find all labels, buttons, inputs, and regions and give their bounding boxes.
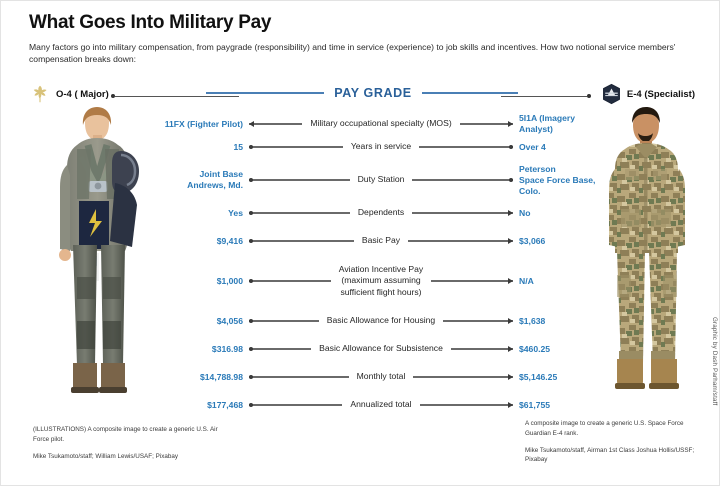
paygrade-rule-left bbox=[206, 92, 324, 94]
row-left-value: 15 bbox=[151, 142, 249, 153]
row-left-value: $4,056 bbox=[151, 316, 249, 327]
table-row: $177,468 Annualized total $61,755 bbox=[151, 391, 611, 419]
paygrade-title: PAY GRADE bbox=[324, 86, 421, 100]
table-row: $1,000 Aviation Incentive Pay (maximum a… bbox=[151, 255, 611, 307]
paygrade-rule-right bbox=[422, 92, 518, 94]
connector-right bbox=[412, 175, 513, 184]
row-middle: Basic Pay bbox=[249, 235, 513, 246]
row-right-value: Over 4 bbox=[513, 142, 611, 153]
connector-left bbox=[249, 316, 319, 325]
row-label: Military occupational specialty (MOS) bbox=[302, 118, 459, 129]
table-row: Joint Base Andrews, Md. Duty Station Pet… bbox=[151, 161, 611, 199]
row-right-value: $5,146.25 bbox=[513, 372, 611, 383]
connector-right bbox=[413, 372, 513, 381]
row-left-value: Joint Base Andrews, Md. bbox=[151, 169, 249, 191]
infographic-page: What Goes Into Military Pay Many factors… bbox=[0, 0, 720, 486]
row-middle: Basic Allowance for Subsistence bbox=[249, 343, 513, 354]
row-label: Basic Pay bbox=[354, 235, 408, 246]
left-caption-description: (ILLUSTRATIONS) A composite image to cre… bbox=[33, 425, 233, 445]
right-axis-line bbox=[501, 96, 587, 97]
row-label: Dependents bbox=[350, 207, 412, 218]
row-middle: Monthly total bbox=[249, 371, 513, 382]
row-right-value: $3,066 bbox=[513, 236, 611, 247]
right-caption: A composite image to create a generic U.… bbox=[525, 419, 703, 465]
table-row: $316.98 Basic Allowance for Subsistence … bbox=[151, 335, 611, 363]
left-rank-group: O-4 ( Major) bbox=[29, 83, 109, 105]
row-right-value: $460.25 bbox=[513, 344, 611, 355]
row-middle: Annualized total bbox=[249, 399, 513, 410]
right-axis-dot bbox=[587, 94, 591, 98]
row-label: Basic Allowance for Housing bbox=[319, 315, 443, 326]
page-subtitle: Many factors go into military compensati… bbox=[29, 41, 695, 66]
header: What Goes Into Military Pay Many factors… bbox=[29, 13, 695, 66]
connector-right bbox=[408, 236, 513, 245]
gold-oak-leaf-icon bbox=[29, 83, 51, 105]
page-title: What Goes Into Military Pay bbox=[29, 13, 695, 34]
row-label: Aviation Incentive Pay (maximum assuming… bbox=[331, 264, 431, 298]
connector-right bbox=[451, 344, 513, 353]
connector-left bbox=[249, 344, 311, 353]
table-row: Yes Dependents No bbox=[151, 199, 611, 227]
row-middle: Dependents bbox=[249, 207, 513, 218]
row-label: Duty Station bbox=[350, 174, 413, 185]
connector-left bbox=[249, 175, 350, 184]
connector-left bbox=[249, 400, 342, 409]
row-left-value: $1,000 bbox=[151, 276, 249, 287]
row-middle: Duty Station bbox=[249, 174, 513, 185]
connector-left bbox=[249, 236, 354, 245]
row-left-value: $14,788.98 bbox=[151, 372, 249, 383]
left-caption: (ILLUSTRATIONS) A composite image to cre… bbox=[33, 425, 233, 461]
connector-right bbox=[431, 276, 513, 285]
row-left-value: 11FX (Fighter Pilot) bbox=[151, 119, 249, 130]
right-caption-credit: Mike Tsukamoto/staff, Airman 1st Class J… bbox=[525, 446, 703, 466]
connector-left bbox=[249, 276, 331, 285]
left-rank-label: O-4 ( Major) bbox=[56, 89, 109, 100]
row-right-value: No bbox=[513, 208, 611, 219]
row-right-value: N/A bbox=[513, 276, 611, 287]
connector-right bbox=[460, 119, 513, 128]
row-left-value: $177,468 bbox=[151, 400, 249, 411]
table-row: 11FX (Fighter Pilot) Military occupation… bbox=[151, 113, 611, 133]
air-force-pilot-figure bbox=[33, 105, 161, 417]
row-right-value: Peterson Space Force Base, Colo. bbox=[513, 164, 611, 197]
connector-left bbox=[249, 372, 349, 381]
table-row: $14,788.98 Monthly total $5,146.25 bbox=[151, 363, 611, 391]
row-left-value: $316.98 bbox=[151, 344, 249, 355]
table-row: 15 Years in service Over 4 bbox=[151, 133, 611, 161]
space-force-e4-delta-icon bbox=[601, 83, 622, 105]
paygrade-axis-bar: O-4 ( Major) PAY GRADE E-4 (Specialist) bbox=[29, 83, 695, 107]
connector-left bbox=[249, 119, 302, 128]
connector-right bbox=[443, 316, 513, 325]
table-row: $4,056 Basic Allowance for Housing $1,63… bbox=[151, 307, 611, 335]
connector-right bbox=[420, 400, 513, 409]
connector-left bbox=[249, 208, 350, 217]
comparison-rows: 11FX (Fighter Pilot) Military occupation… bbox=[151, 113, 611, 419]
connector-right bbox=[412, 208, 513, 217]
row-label: Monthly total bbox=[349, 371, 414, 382]
row-middle: Military occupational specialty (MOS) bbox=[249, 118, 513, 129]
connector-left bbox=[249, 142, 343, 151]
right-caption-description: A composite image to create a generic U.… bbox=[525, 419, 703, 439]
row-label: Years in service bbox=[343, 141, 419, 152]
left-axis-line bbox=[115, 96, 239, 97]
row-right-value: $61,755 bbox=[513, 400, 611, 411]
table-row: $9,416 Basic Pay $3,066 bbox=[151, 227, 611, 255]
paygrade-title-group: PAY GRADE bbox=[29, 86, 695, 100]
row-right-value: 5I1A (Imagery Analyst) bbox=[513, 113, 611, 135]
right-rank-group: E-4 (Specialist) bbox=[601, 83, 695, 105]
row-middle: Years in service bbox=[249, 141, 513, 152]
row-right-value: $1,638 bbox=[513, 316, 611, 327]
connector-right bbox=[419, 142, 513, 151]
graphic-credit: Graphic by Dash Parham/staff bbox=[711, 317, 718, 405]
row-middle: Basic Allowance for Housing bbox=[249, 315, 513, 326]
row-left-value: Yes bbox=[151, 208, 249, 219]
row-left-value: $9,416 bbox=[151, 236, 249, 247]
row-label: Basic Allowance for Subsistence bbox=[311, 343, 451, 354]
row-label: Annualized total bbox=[342, 399, 419, 410]
row-middle: Aviation Incentive Pay (maximum assuming… bbox=[249, 264, 513, 298]
right-rank-label: E-4 (Specialist) bbox=[627, 89, 695, 100]
left-caption-credit: Mike Tsukamoto/staff; William Lewis/USAF… bbox=[33, 452, 233, 462]
